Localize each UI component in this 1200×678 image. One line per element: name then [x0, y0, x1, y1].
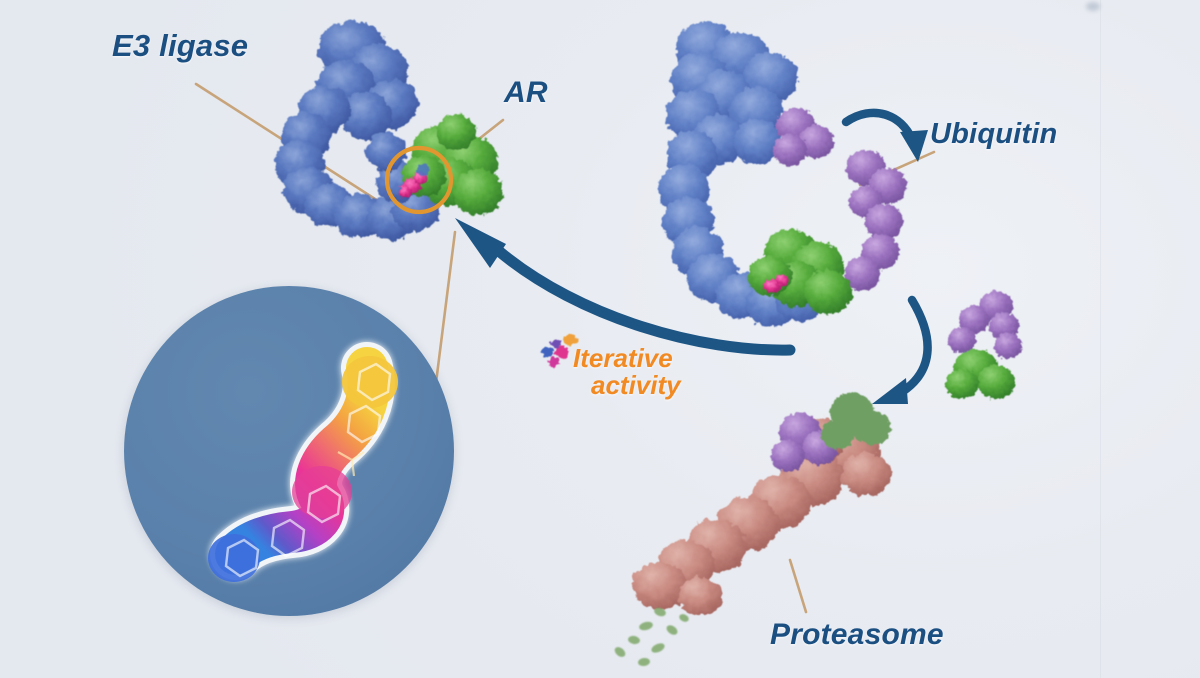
degraded-peptide-fragments	[613, 606, 690, 667]
ubiquitin-on-e3	[773, 108, 834, 166]
ard-2585-magnifier-circle[interactable]: ARD-2585	[124, 286, 454, 616]
label-iterative-activity: Iterative activity	[573, 345, 681, 399]
e3-ligase-left-structure	[275, 21, 440, 240]
ubiquitin-chain-free	[844, 150, 907, 291]
polyubiquitinated-ar-structure	[945, 291, 1022, 399]
label-proteasome: Proteasome	[770, 618, 944, 652]
label-iterative-line1: Iterative	[573, 345, 681, 372]
label-ar: AR	[504, 76, 548, 110]
arrow-degradation	[872, 300, 928, 404]
figure-canvas: ARD-2585 E3 ligase AR Ubiquitin Proteaso…	[0, 0, 1200, 678]
leader-line-proteasome	[790, 560, 806, 612]
protac-molecule-icon	[542, 334, 577, 367]
proteasome-structure	[633, 418, 891, 615]
label-e3-ligase: E3 ligase	[112, 28, 248, 64]
label-ubiquitin: Ubiquitin	[930, 118, 1057, 151]
ard-2585-molecule	[124, 286, 454, 616]
label-iterative-line2: activity	[573, 372, 681, 399]
